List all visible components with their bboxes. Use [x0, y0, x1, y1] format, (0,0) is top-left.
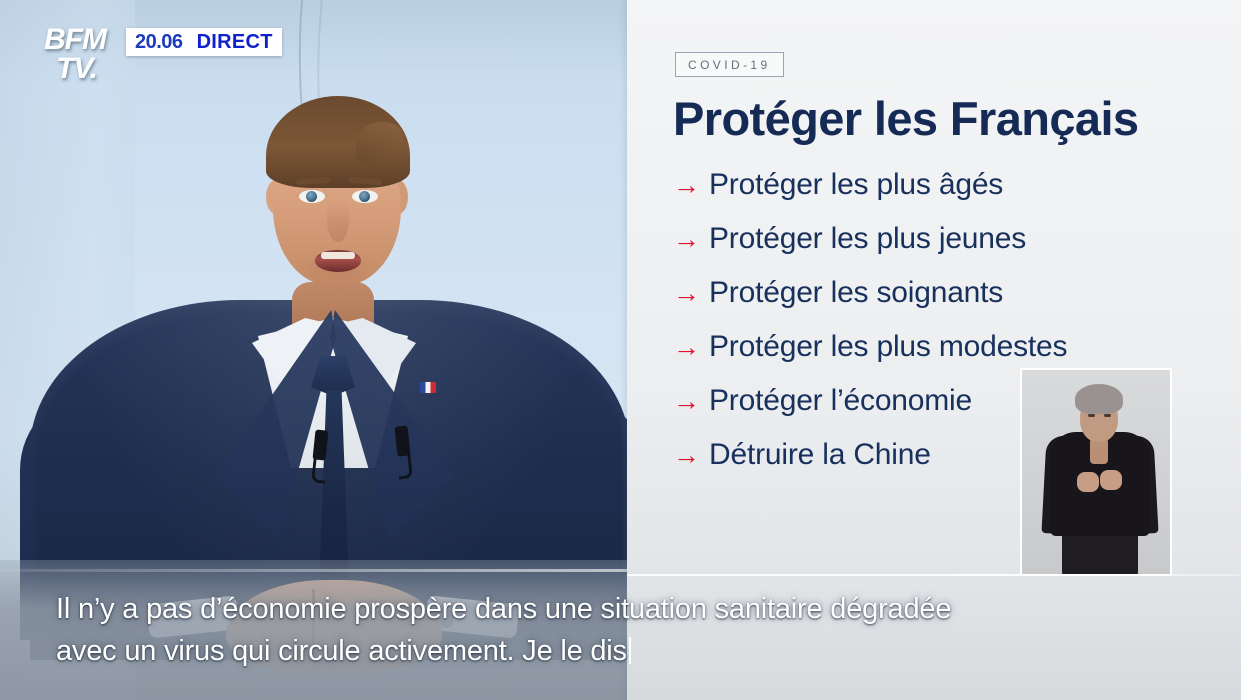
arrow-right-icon: →: [673, 226, 699, 253]
interpreter-hand-left: [1077, 472, 1099, 492]
interpreter-hair: [1075, 384, 1123, 414]
list-item-label: Protéger les plus jeunes: [709, 222, 1026, 255]
list-item: → Protéger les soignants: [673, 276, 1233, 320]
list-item: → Protéger les plus jeunes: [673, 222, 1233, 266]
subtitle-line-1: Il n’y a pas d’économie prospère dans un…: [56, 588, 1185, 630]
list-item-label: Protéger les plus âgés: [709, 168, 1003, 201]
list-item-label: Protéger l’économie: [709, 384, 972, 417]
broadcast-clock: 20.06: [135, 31, 183, 54]
hair: [266, 96, 410, 188]
interpreter-legs: [1062, 530, 1138, 576]
subtitle-overlay: Il n’y a pas d’économie prospère dans un…: [0, 588, 1241, 673]
interpreter-eye-right: [1104, 414, 1111, 417]
subtitle-line-2-wrap: avec un virus qui circule activement. Je…: [56, 630, 1185, 672]
logo-line-1: BFM: [44, 26, 124, 55]
panel-title: Protéger les Français: [673, 94, 1233, 143]
arrow-right-icon: →: [673, 388, 699, 415]
interpreter-hand-right: [1100, 470, 1122, 490]
speaker-figure: [30, 60, 630, 620]
arrow-right-icon: →: [673, 442, 699, 469]
bfmtv-logo: BFM TV.: [44, 26, 124, 92]
list-item-label: Protéger les plus modestes: [709, 330, 1067, 363]
list-item-label: Détruire la Chine: [709, 438, 931, 471]
live-status-bar: 20.06 DIRECT: [126, 28, 282, 56]
french-flag-pin-icon: [420, 382, 436, 393]
nose: [327, 200, 349, 242]
topic-badge: COVID-19: [675, 52, 784, 77]
live-badge: DIRECT: [197, 31, 273, 54]
arrow-right-icon: →: [673, 172, 699, 199]
logo-line-2: TV.: [44, 55, 124, 84]
eye-right: [352, 190, 378, 203]
arrow-right-icon: →: [673, 280, 699, 307]
broadcast-frame: BFM TV. 20.06 DIRECT COVID-19 Protéger l…: [0, 0, 1241, 700]
list-item-label: Protéger les soignants: [709, 276, 1003, 309]
eye-left: [299, 190, 325, 203]
list-item: → Protéger les plus âgés: [673, 168, 1233, 212]
mouth: [315, 250, 361, 272]
subtitle-caret: [629, 637, 631, 664]
sign-language-inset: [1020, 368, 1172, 576]
arrow-right-icon: →: [673, 334, 699, 361]
subtitle-line-2: avec un virus qui circule activement. Je…: [56, 635, 627, 667]
interpreter-eye-left: [1088, 414, 1095, 417]
